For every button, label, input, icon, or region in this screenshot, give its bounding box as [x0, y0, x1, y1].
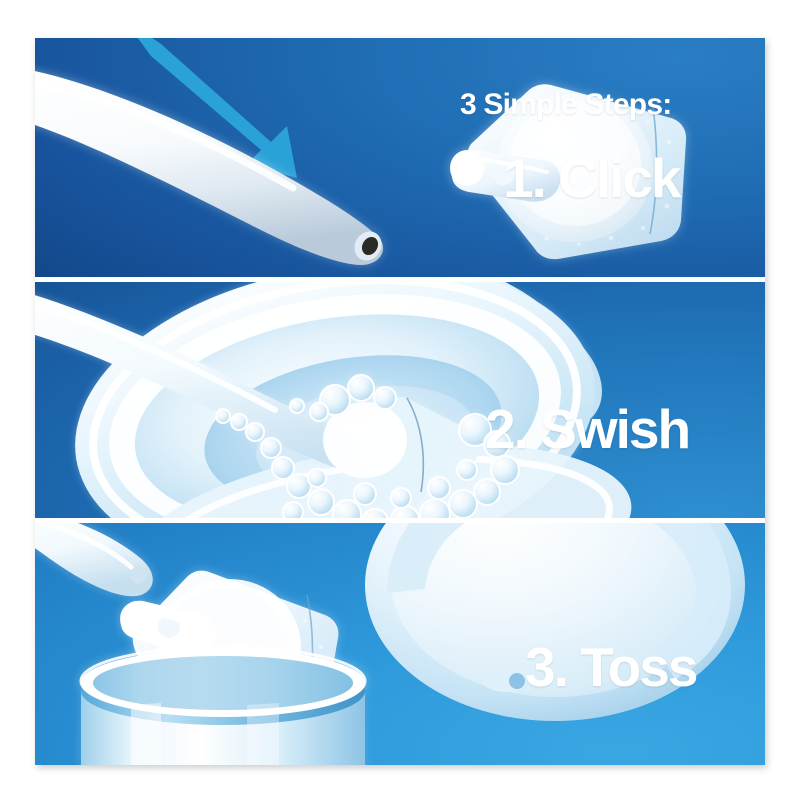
- three-step-instruction-card: 3 Simple Steps: 1. Click: [35, 38, 765, 765]
- step-1-label: 1. Click: [503, 146, 680, 210]
- step-panel-swish: 2. Swish: [35, 282, 765, 518]
- step-2-label: 2. Swish: [485, 397, 689, 461]
- step-3-label: 3. Toss: [525, 635, 696, 699]
- step-panel-toss: 3. Toss: [35, 523, 765, 765]
- trash-can: [81, 647, 365, 765]
- page-title: 3 Simple Steps:: [460, 88, 671, 122]
- empty-wand: [35, 523, 153, 596]
- screenshot-canvas: 3 Simple Steps: 1. Click: [0, 0, 800, 800]
- step-panel-click: 3 Simple Steps: 1. Click: [35, 38, 765, 277]
